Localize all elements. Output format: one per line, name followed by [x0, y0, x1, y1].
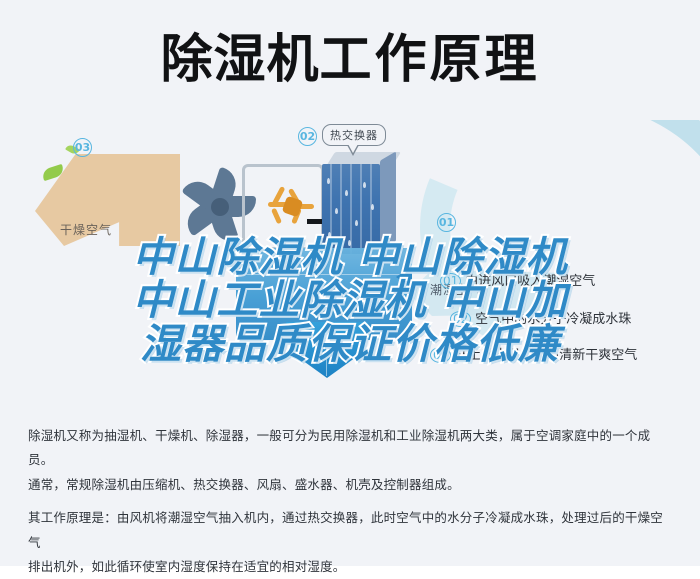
- step-badge-02: 02: [298, 127, 317, 146]
- step-note-02: 02空气中的水分子冷凝成水珠: [450, 308, 631, 327]
- step-note-02-text: 空气中的水分子冷凝成水珠: [475, 312, 631, 327]
- step-note-01-text: 由进风口吸入潮湿空气: [465, 274, 595, 289]
- page-title-part1: 除湿机: [160, 30, 319, 90]
- water-tank-icon: [286, 322, 368, 378]
- heat-exchanger-callout: 热交换器: [322, 124, 386, 146]
- title-band: 除湿机工作原理: [0, 0, 700, 120]
- dry-air-label: 干燥空气: [60, 221, 112, 238]
- page-title: 除湿机工作原理: [160, 34, 539, 86]
- step-note-03-num: 03: [430, 347, 451, 363]
- body-copy: 除湿机又称为抽湿机、干燥机、除湿器，一般可分为民用除湿机和工业除湿机两大类，属于…: [0, 410, 700, 566]
- body-paragraph-3: 其工作原理是：由风机将潮湿空气抽入机内，通过热交换器，此时空气中的水分子冷凝成水…: [28, 506, 672, 555]
- heat-exchanger-icon: [322, 152, 396, 254]
- step-note-03: 03从上部出风口吹出清新干爽空气: [430, 344, 637, 363]
- step-note-02-num: 02: [450, 311, 471, 327]
- step-note-03-text: 从上部出风口吹出清新干爽空气: [455, 348, 637, 363]
- body-paragraph-2: 通常，常规除湿机由压缩机、热交换器、风扇、盛水器、机壳及控制器组成。: [28, 473, 672, 497]
- intake-arrow-icon: [396, 266, 412, 288]
- body-paragraph-1: 除湿机又称为抽湿机、干燥机、除湿器，一般可分为民用除湿机和工业除湿机两大类，属于…: [28, 424, 672, 473]
- water-tank-seam: [326, 348, 327, 376]
- page-root: 除湿机工作原理 干燥空气 潮湿空气: [0, 0, 700, 566]
- step-badge-01: 01: [437, 213, 456, 232]
- body-paragraph-4: 排出机外，如此循环使室内湿度保持在适宜的相对湿度。: [28, 555, 672, 579]
- page-title-part2: 工作原理: [320, 30, 540, 90]
- step-note-01-num: 01: [440, 273, 461, 289]
- step-note-01: 01由进风口吸入潮湿空气: [440, 270, 595, 289]
- water-tank-label: 水箱: [312, 332, 336, 348]
- step-badge-03: 03: [73, 138, 92, 157]
- dehumidifier-diagram: 干燥空气 潮湿空气: [0, 120, 700, 410]
